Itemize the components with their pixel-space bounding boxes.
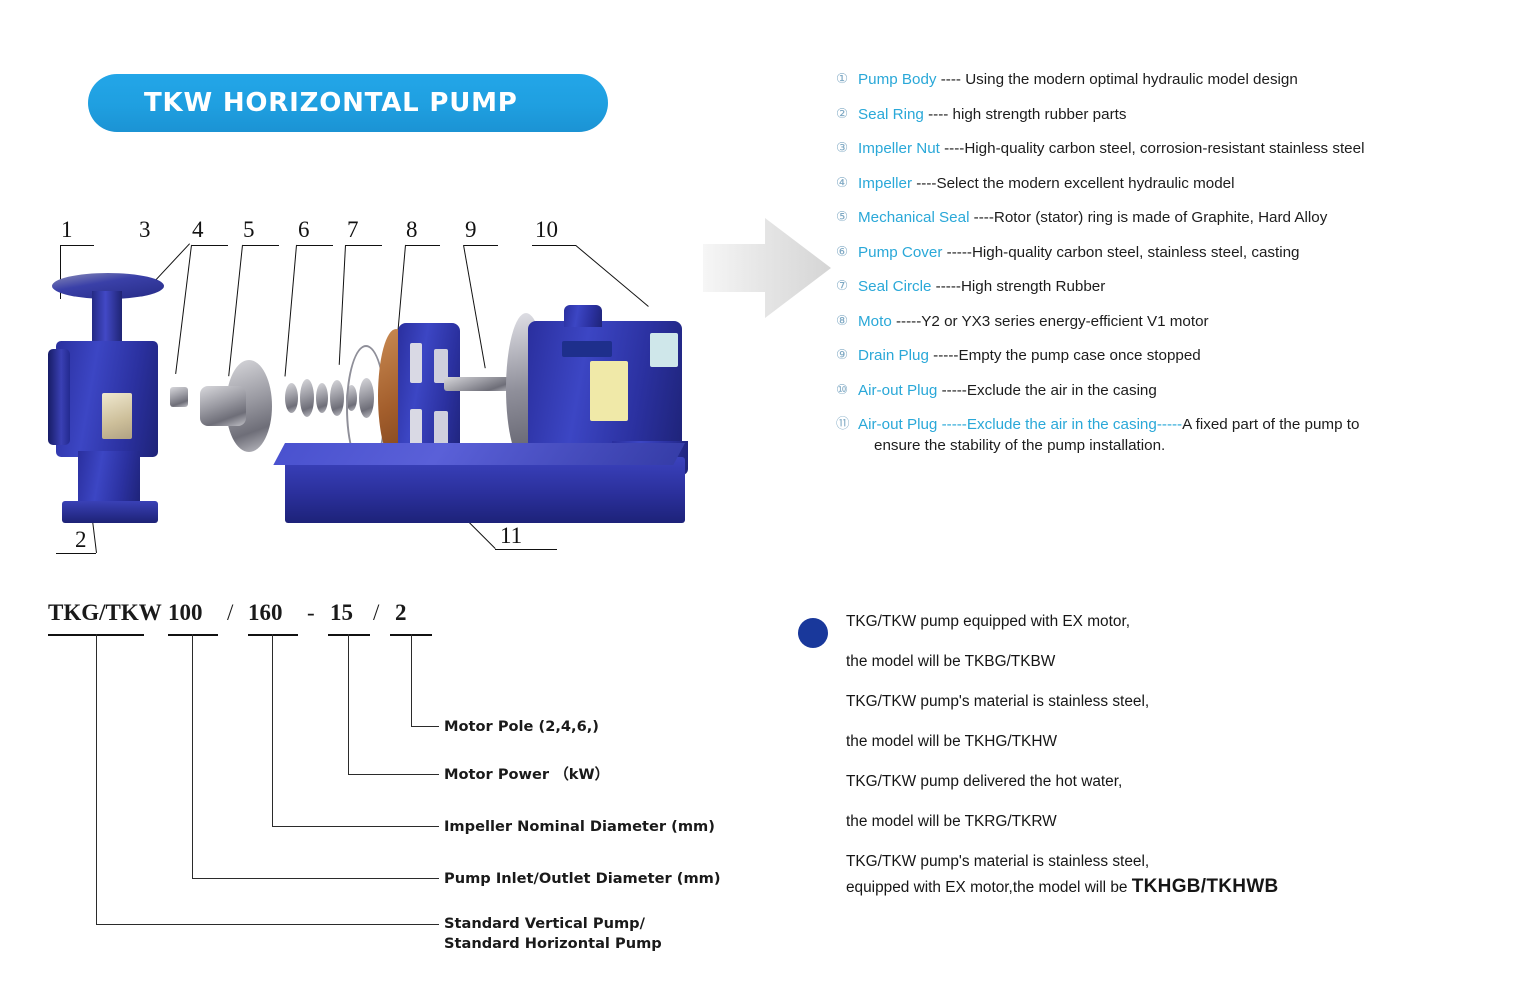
legend-description-blue: Exclude the air in the casing-----	[967, 416, 1182, 433]
legend-part-name: Mechanical Seal	[858, 209, 969, 226]
model-variant-notes: TKG/TKW pump equipped with EX motor, the…	[798, 612, 1418, 918]
legend-item-2: ② Seal Ring ---- high strength rubber pa…	[836, 105, 1504, 124]
legend-number-icon: ①	[836, 70, 858, 89]
note-line-3: TKG/TKW pump's material is stainless ste…	[846, 692, 1418, 711]
legend-description: Empty the pump case once stopped	[958, 347, 1200, 364]
legend-item-3: ③ Impeller Nut ----High-quality carbon s…	[836, 139, 1504, 158]
model-label-pump-type-line2: Standard Horizontal Pump	[444, 934, 662, 953]
callout-6: 6	[298, 217, 310, 243]
legend-number-icon: ⑩	[836, 381, 858, 400]
model-label-inlet-outlet-diameter: Pump Inlet/Outlet Diameter (mm)	[444, 869, 721, 888]
legend-description: Using the modern optimal hydraulic model…	[965, 71, 1298, 88]
legend-description: High-quality carbon steel, stainless ste…	[972, 244, 1300, 261]
model-separator-dash: -	[307, 600, 315, 626]
legend-part-name: Drain Plug	[858, 347, 929, 364]
legend-part-name: Seal Ring	[858, 106, 924, 123]
legend-separator: ----	[940, 140, 964, 157]
legend-description: Exclude the air in the casing	[967, 382, 1157, 399]
legend-description-line2: ensure the stability of the pump install…	[858, 436, 1504, 455]
legend-number-icon: ⑪	[836, 415, 858, 434]
legend-description: high strength rubber parts	[953, 106, 1127, 123]
legend-number-icon: ⑥	[836, 243, 858, 262]
legend-separator: -----	[931, 278, 961, 295]
legend-separator: ----	[969, 209, 993, 226]
note-line-7: TKG/TKW pump's material is stainless ste…	[846, 852, 1418, 871]
model-segment-series: TKG/TKW	[48, 600, 162, 626]
callout-9: 9	[465, 217, 477, 243]
legend-separator: ----	[912, 175, 936, 192]
legend-description: Rotor (stator) ring is made of Graphite,…	[994, 209, 1327, 226]
legend-item-11: ⑪ Air-out Plug -----Exclude the air in t…	[836, 415, 1504, 455]
impeller-graphic	[200, 360, 278, 452]
model-code-diagram: TKG/TKW 100 / 160 - 15 / 2 Motor Pole (2…	[40, 596, 740, 966]
callout-1: 1	[61, 217, 73, 243]
legend-item-10: ⑩ Air-out Plug -----Exclude the air in t…	[836, 381, 1504, 400]
base-plate-graphic	[285, 443, 685, 531]
callout-4: 4	[192, 217, 204, 243]
legend-part-name: Seal Circle	[858, 278, 931, 295]
note-line-2: the model will be TKBG/TKBW	[846, 652, 1418, 671]
legend-part-name: Impeller Nut	[858, 140, 940, 157]
page-title: TKW HORIZONTAL PUMP	[88, 88, 518, 118]
callout-5: 5	[243, 217, 255, 243]
legend-separator: ----	[937, 71, 966, 88]
legend-item-5: ⑤ Mechanical Seal ----Rotor (stator) rin…	[836, 208, 1504, 227]
note-line-1: TKG/TKW pump equipped with EX motor,	[846, 612, 1418, 631]
bullet-point-icon	[798, 618, 828, 648]
legend-separator: -----	[937, 416, 967, 433]
legend-separator: -----	[937, 382, 967, 399]
pump-exploded-diagram: 1 3 4 5 6 7 8 9 10 2 11	[40, 205, 700, 565]
legend-item-7: ⑦ Seal Circle -----High strength Rubber	[836, 277, 1504, 296]
model-segment-pole: 2	[395, 600, 407, 626]
model-label-motor-pole: Motor Pole (2,4,6,)	[444, 717, 599, 736]
legend-item-6: ⑥ Pump Cover -----High-quality carbon st…	[836, 243, 1504, 262]
legend-description: High-quality carbon steel, corrosion-res…	[964, 140, 1364, 157]
legend-part-name: Pump Cover	[858, 244, 942, 261]
note-line-5: TKG/TKW pump delivered the hot water,	[846, 772, 1418, 791]
model-segment-power: 15	[330, 600, 353, 626]
legend-number-icon: ⑦	[836, 277, 858, 296]
legend-number-icon: ④	[836, 174, 858, 193]
legend-number-icon: ②	[836, 105, 858, 124]
legend-number-icon: ⑧	[836, 312, 858, 331]
legend-separator: -----	[892, 313, 922, 330]
model-label-motor-power: Motor Power （kW）	[444, 765, 609, 784]
legend-item-1: ① Pump Body ---- Using the modern optima…	[836, 70, 1504, 89]
callout-2: 2	[75, 527, 87, 553]
legend-description: High strength Rubber	[961, 278, 1105, 295]
legend-description: A fixed part of the pump to	[1182, 416, 1359, 433]
legend-number-icon: ⑨	[836, 346, 858, 365]
legend-separator: -----	[942, 244, 972, 261]
legend-separator: ----	[924, 106, 953, 123]
legend-part-name: Moto	[858, 313, 892, 330]
callout-10: 10	[535, 217, 558, 243]
legend-part-name: Pump Body	[858, 71, 937, 88]
note-line-8-model: TKHGB/TKHWB	[1132, 876, 1279, 897]
legend-part-name: Air-out Plug	[858, 416, 937, 433]
model-segment-inlet: 100	[168, 600, 203, 626]
pump-body-graphic	[48, 265, 172, 515]
legend-description: Y2 or YX3 series energy-efficient V1 mot…	[921, 313, 1208, 330]
model-segment-impeller: 160	[248, 600, 283, 626]
legend-item-4: ④ Impeller ----Select the modern excelle…	[836, 174, 1504, 193]
note-line-8: equipped with EX motor,the model will be…	[846, 877, 1418, 897]
note-line-6: the model will be TKRG/TKRW	[846, 812, 1418, 831]
legend-description: Select the modern excellent hydraulic mo…	[936, 175, 1234, 192]
legend-item-9: ⑨ Drain Plug -----Empty the pump case on…	[836, 346, 1504, 365]
legend-item-8: ⑧ Moto -----Y2 or YX3 series energy-effi…	[836, 312, 1504, 331]
legend-part-name: Air-out Plug	[858, 382, 937, 399]
model-label-pump-type-line1: Standard Vertical Pump/	[444, 914, 645, 933]
parts-legend: ① Pump Body ---- Using the modern optima…	[836, 70, 1504, 471]
legend-number-icon: ⑤	[836, 208, 858, 227]
note-line-8-text: equipped with EX motor,the model will be	[846, 879, 1132, 896]
model-separator-slash-2: /	[373, 600, 379, 626]
callout-7: 7	[347, 217, 359, 243]
model-separator-slash-1: /	[227, 600, 233, 626]
impeller-nut-graphic	[170, 387, 188, 407]
model-label-impeller-diameter: Impeller Nominal Diameter (mm)	[444, 817, 715, 836]
legend-part-name: Impeller	[858, 175, 912, 192]
legend-separator: -----	[929, 347, 959, 364]
legend-number-icon: ③	[836, 139, 858, 158]
callout-3: 3	[139, 217, 151, 243]
page-title-banner: TKW HORIZONTAL PUMP	[88, 74, 608, 132]
note-line-4: the model will be TKHG/TKHW	[846, 732, 1418, 751]
callout-8: 8	[406, 217, 418, 243]
right-arrow-icon	[703, 216, 831, 320]
